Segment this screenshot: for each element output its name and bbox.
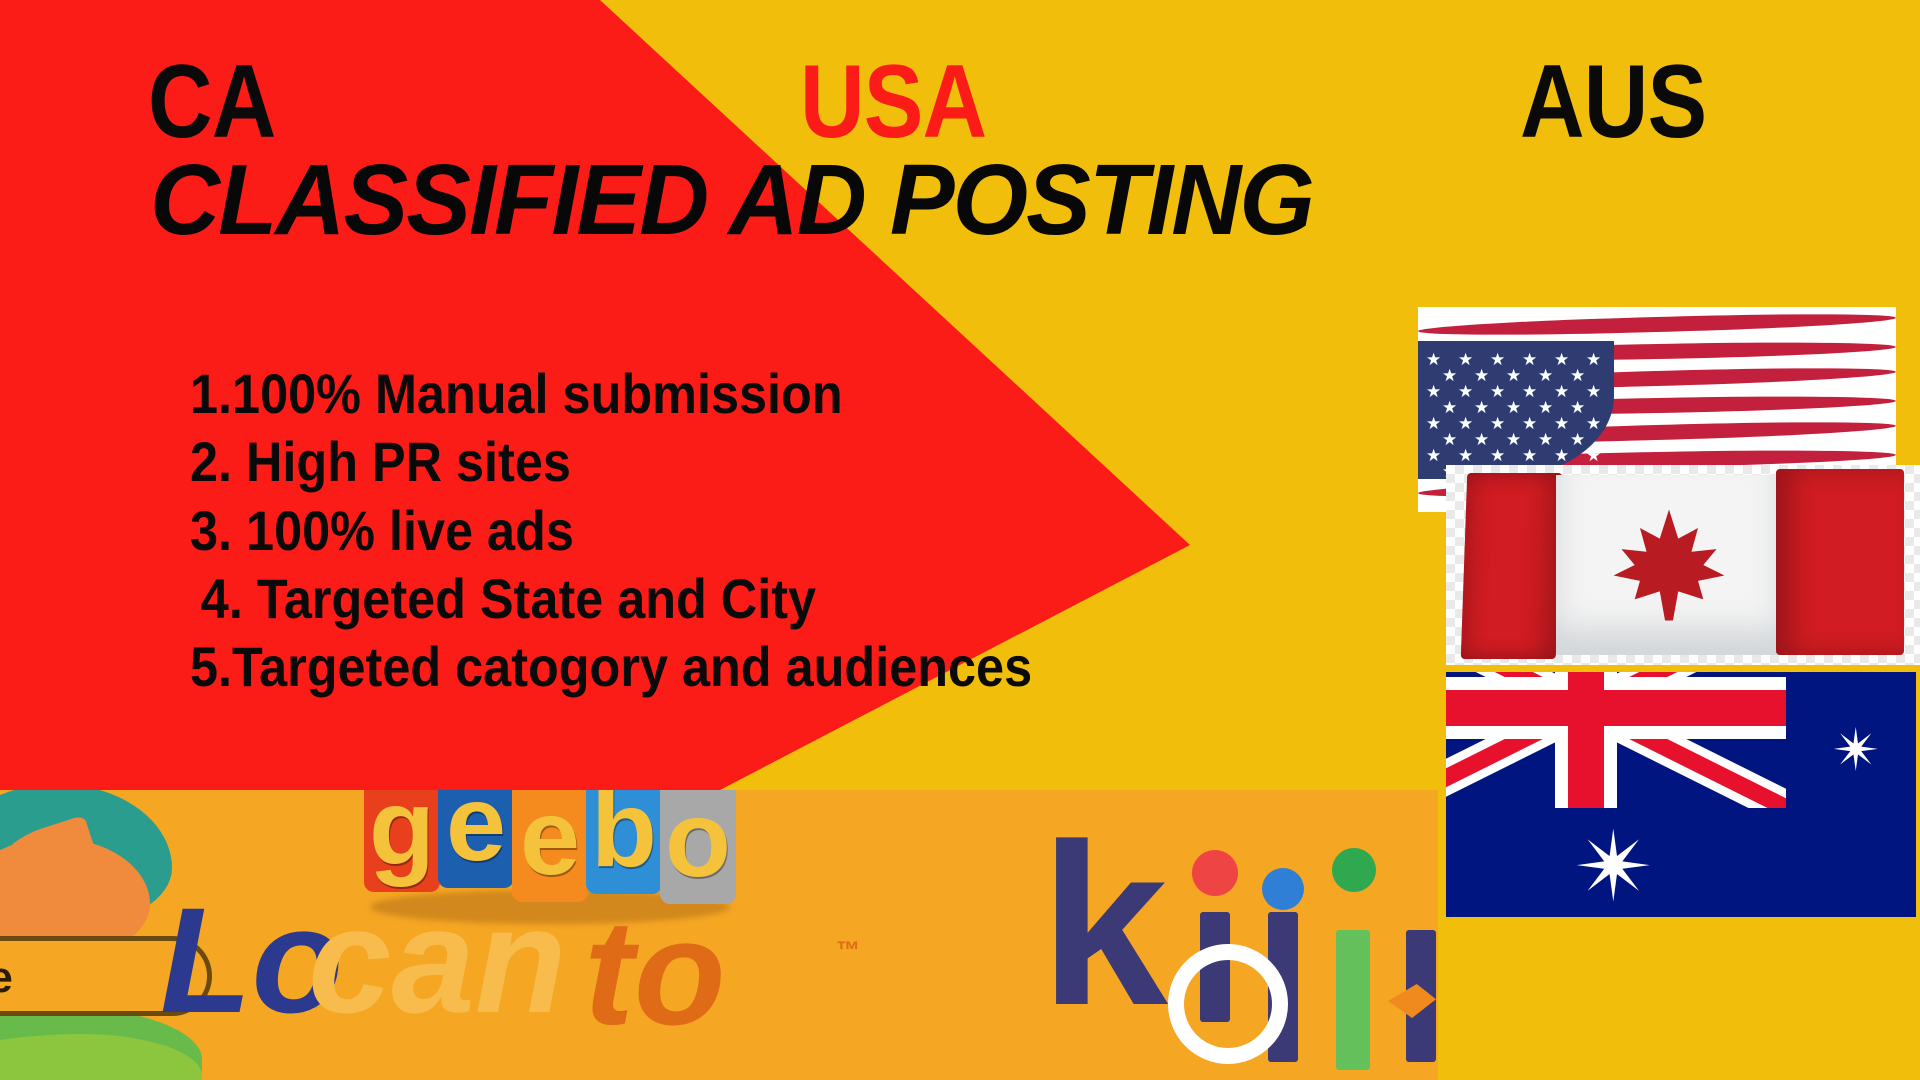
locanto-wordmark-part3: to (584, 897, 726, 1047)
usa-flag-star: ★ (1506, 399, 1521, 416)
locanto-trademark-symbol: ™ (836, 937, 860, 965)
page-title: CLASSIFIED AD POSTING (150, 150, 1857, 250)
locanto-wordmark-part2: can (308, 885, 566, 1035)
usa-flag-star: ★ (1554, 383, 1569, 400)
list-item: 2. High PR sites (190, 428, 1270, 496)
feature-list: 1.100% Manual submission 2. High PR site… (190, 360, 1390, 702)
kijiji-stem-i2 (1336, 930, 1370, 1070)
usa-flag-star: ★ (1522, 415, 1537, 432)
usa-flag-star: ★ (1554, 415, 1569, 432)
usa-flag-star: ★ (1586, 447, 1601, 464)
usa-flag-star: ★ (1538, 431, 1553, 448)
locanto-logo: Lo can to ™ (160, 885, 860, 1075)
maple-leaf-icon (1594, 499, 1744, 631)
kijiji-white-ring (1168, 944, 1288, 1064)
usa-flag-star: ★ (1554, 351, 1569, 368)
australia-flag: ✴ ✴ (1446, 672, 1916, 917)
usa-flag-star: ★ (1538, 399, 1553, 416)
list-item: 5.Targeted catogory and audiences (190, 633, 1270, 701)
usa-flag-star: ★ (1474, 367, 1489, 384)
commonwealth-star-icon: ✴ (1574, 820, 1654, 916)
geebo-letter-tile: e (438, 790, 514, 888)
usa-flag-star: ★ (1458, 415, 1473, 432)
usa-flag-star: ★ (1426, 447, 1441, 464)
list-item: 4. Targeted State and City (190, 565, 1270, 633)
usa-flag-star: ★ (1586, 415, 1601, 432)
usa-flag-star: ★ (1506, 431, 1521, 448)
usa-flag-star: ★ (1442, 367, 1457, 384)
usa-flag-star: ★ (1522, 351, 1537, 368)
usa-flag-star: ★ (1474, 399, 1489, 416)
kijiji-dot-blue (1262, 868, 1304, 910)
country-aus-label: AUS (1520, 50, 1706, 154)
canada-flag (1446, 465, 1920, 665)
usa-flag-star: ★ (1426, 415, 1441, 432)
usa-flag-star: ★ (1554, 447, 1569, 464)
usa-flag-star: ★ (1586, 351, 1601, 368)
gumtree-wordmark: mtree (0, 953, 12, 1003)
list-item: 3. 100% live ads (190, 497, 1270, 565)
usa-flag-star: ★ (1442, 431, 1457, 448)
usa-flag-star: ★ (1474, 431, 1489, 448)
classified-sites-logo-strip: mtree geebo Lo can to ™ k (0, 790, 1438, 1080)
country-usa-label: USA (800, 50, 986, 154)
usa-flag-star: ★ (1426, 383, 1441, 400)
kijiji-dot-green (1332, 848, 1376, 892)
southern-cross-star-icon: ✴ (1832, 722, 1881, 780)
usa-flag-stripe (1418, 310, 1896, 338)
union-jack-icon (1446, 672, 1786, 808)
usa-flag-star: ★ (1426, 351, 1441, 368)
usa-flag-star: ★ (1458, 447, 1473, 464)
canada-flag-left-band (1461, 473, 1562, 659)
usa-flag-star: ★ (1538, 367, 1553, 384)
country-heading-row: CA USA AUS (0, 26, 1920, 156)
usa-flag-star: ★ (1490, 447, 1505, 464)
usa-flag-star: ★ (1458, 351, 1473, 368)
kijiji-dot-red (1192, 850, 1238, 896)
usa-flag-star: ★ (1522, 447, 1537, 464)
usa-flag-star: ★ (1506, 367, 1521, 384)
usa-flag-star: ★ (1570, 399, 1585, 416)
usa-flag-star: ★ (1458, 383, 1473, 400)
usa-flag-star: ★ (1570, 367, 1585, 384)
geebo-letter-tile: b (586, 790, 662, 894)
canada-flag-right-band (1776, 469, 1904, 655)
list-item: 1.100% Manual submission (190, 360, 1270, 428)
country-ca-label: CA (148, 50, 275, 154)
kijiji-logo: k (1040, 790, 1438, 1062)
poster-canvas: CA USA AUS CLASSIFIED AD POSTING 1.100% … (0, 0, 1920, 1080)
usa-flag-star: ★ (1586, 383, 1601, 400)
usa-flag-star: ★ (1442, 399, 1457, 416)
usa-flag-star: ★ (1490, 415, 1505, 432)
usa-flag-star: ★ (1490, 383, 1505, 400)
usa-flag-star: ★ (1522, 383, 1537, 400)
kijiji-wordmark-k: k (1040, 810, 1168, 1040)
usa-flag-star: ★ (1490, 351, 1505, 368)
usa-flag-star: ★ (1570, 431, 1585, 448)
